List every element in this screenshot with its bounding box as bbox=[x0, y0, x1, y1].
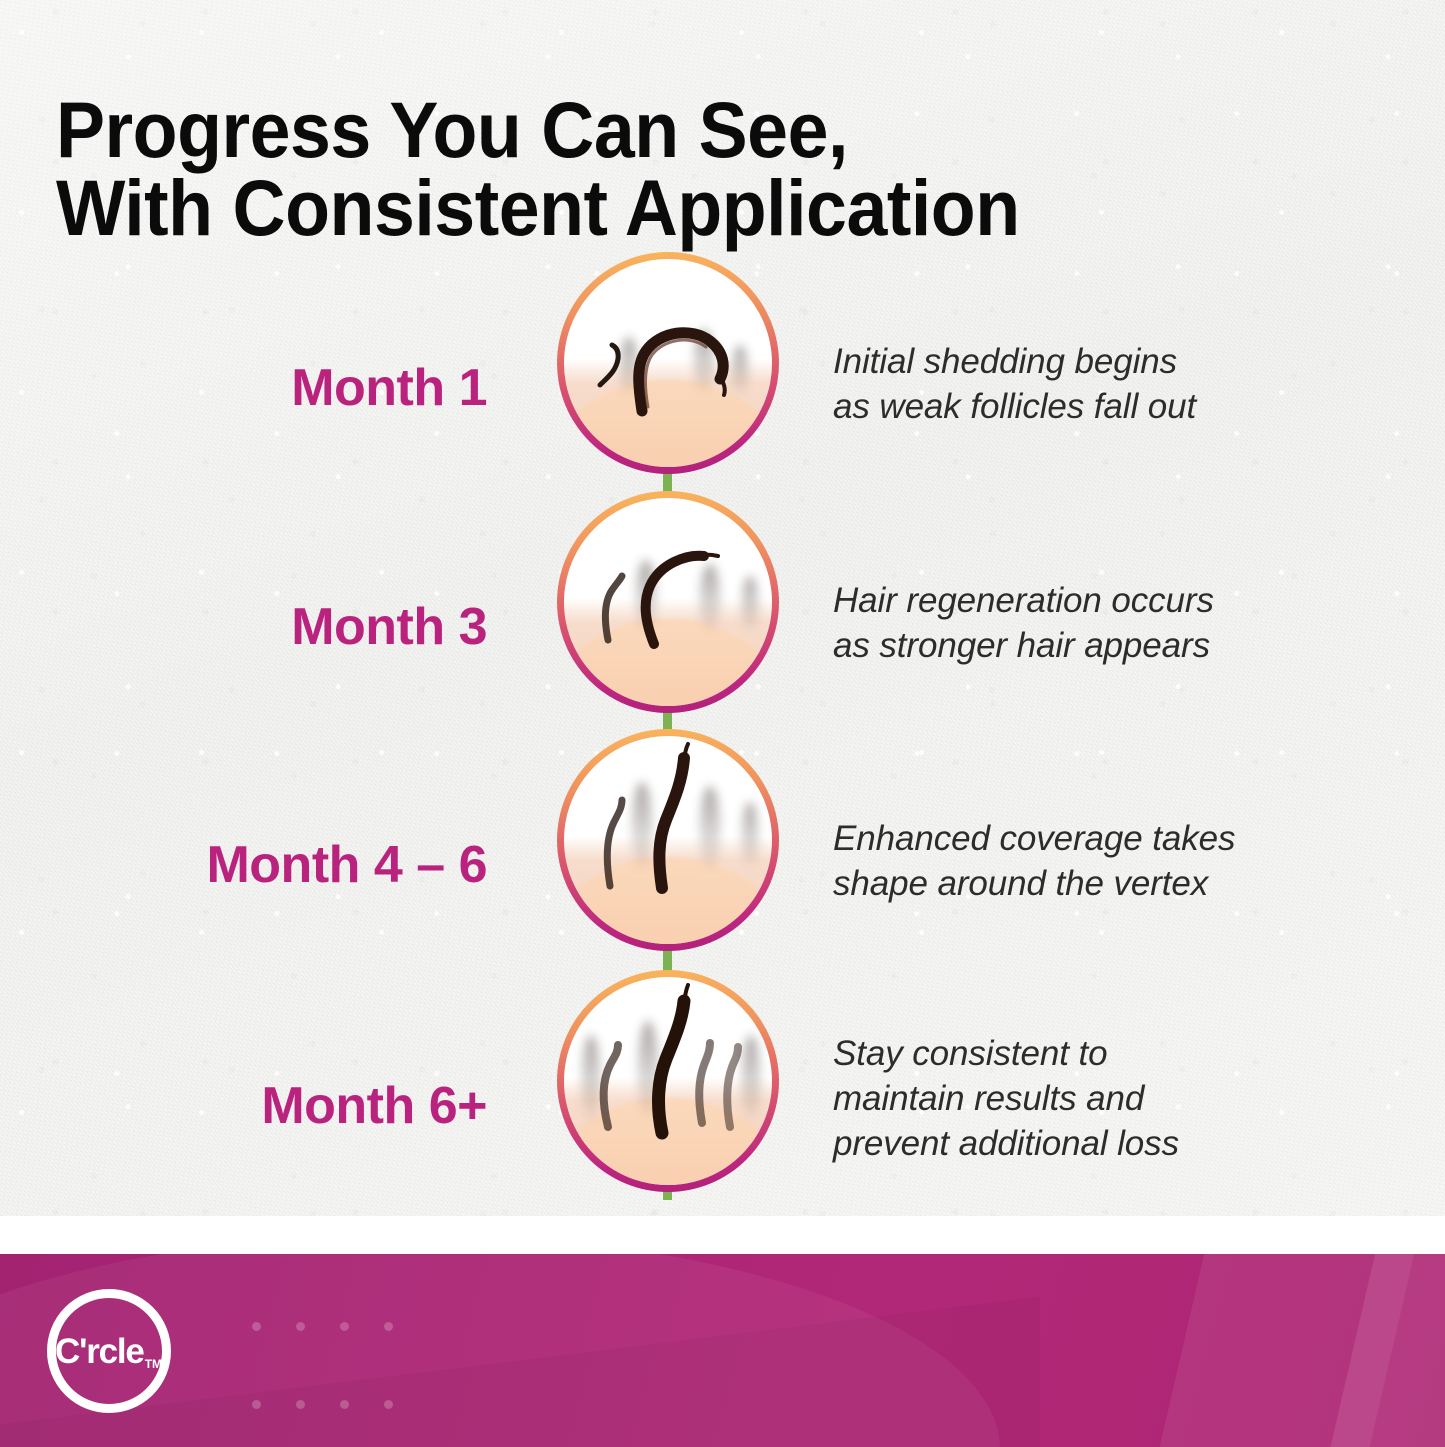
step-month-label: Month 3 bbox=[67, 601, 487, 653]
white-separator bbox=[0, 1216, 1445, 1254]
step-description: Stay consistent to maintain results and … bbox=[833, 1032, 1373, 1166]
step-description: Initial shedding begins as weak follicle… bbox=[833, 340, 1373, 430]
trademark-symbol: TM bbox=[145, 1357, 162, 1371]
brand-logo: C'rcleTM bbox=[47, 1289, 171, 1413]
timeline: Month 1 Initial shedding begins bbox=[0, 252, 1445, 1202]
step-month-label: Month 6+ bbox=[67, 1080, 487, 1132]
hair-follicle-maintenance-icon bbox=[557, 970, 779, 1192]
timeline-step: Month 6+ Stay cons bbox=[0, 970, 1445, 1206]
infographic-page: Progress You Can See, With Consistent Ap… bbox=[0, 0, 1445, 1447]
step-description: Enhanced coverage takes shape around the… bbox=[833, 817, 1373, 907]
timeline-step: Month 1 Initial shedding begins bbox=[0, 252, 1445, 488]
footer-dot-pattern bbox=[252, 1322, 392, 1440]
page-title: Progress You Can See, With Consistent Ap… bbox=[56, 91, 1219, 247]
footer-bar bbox=[0, 1254, 1445, 1447]
hair-follicle-coverage-icon bbox=[557, 729, 779, 951]
step-description: Hair regeneration occurs as stronger hai… bbox=[833, 579, 1373, 669]
timeline-step: Month 3 Hair regeneration occurs as stro… bbox=[0, 491, 1445, 727]
timeline-step: Month 4 – 6 Enhanced coverage takes shap… bbox=[0, 729, 1445, 965]
step-month-label: Month 4 – 6 bbox=[67, 839, 487, 891]
step-month-label: Month 1 bbox=[67, 362, 487, 414]
hair-follicle-shedding-icon bbox=[557, 252, 779, 474]
brand-logo-text: C'rcleTM bbox=[55, 1334, 161, 1369]
hair-follicle-regrowth-icon bbox=[557, 491, 779, 713]
brand-logo-name: C'rcle bbox=[55, 1332, 144, 1371]
